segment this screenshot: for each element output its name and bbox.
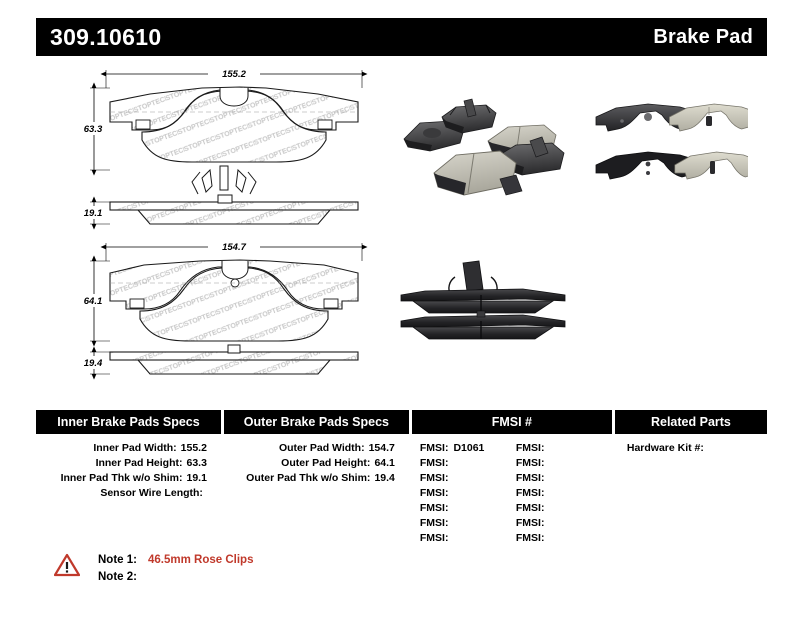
fmsi-row: FMSI:D1061 — [420, 441, 516, 456]
pad-photo-item — [675, 152, 748, 179]
spec-row: Inner Pad Thk w/o Shim:19.1 — [36, 471, 221, 486]
outer-pad-outline — [110, 260, 358, 341]
notes-section: Note 1:46.5mm Rose Clips Note 2: — [36, 552, 536, 586]
svg-text:155.2: 155.2 — [222, 69, 246, 80]
fmsi-label: FMSI: — [516, 532, 545, 544]
spec-label: Outer Pad Height: — [281, 457, 370, 469]
fmsi-label: FMSI: — [516, 502, 545, 514]
fmsi-row: FMSI: — [420, 516, 516, 531]
fmsi-row: FMSI: — [420, 501, 516, 516]
fmsi-row: FMSI: — [516, 456, 612, 471]
spec-row: Inner Pad Width:155.2 — [36, 441, 221, 456]
spec-value: 155.2 — [181, 442, 207, 454]
fmsi-header: FMSI # — [412, 410, 612, 434]
spec-label: Sensor Wire Length: — [100, 487, 203, 499]
spec-row: Inner Pad Height:63.3 — [36, 456, 221, 471]
fmsi-row: FMSI: — [516, 531, 612, 546]
warning-triangle-icon — [54, 553, 80, 577]
fmsi-label: FMSI: — [420, 457, 449, 469]
outer-specs-column: Outer Brake Pads Specs Outer Pad Width:1… — [224, 410, 409, 546]
fmsi-label: FMSI: — [420, 472, 449, 484]
outer-thickness-view: 19.4 — [80, 345, 358, 374]
svg-text:19.4: 19.4 — [84, 358, 103, 369]
note-row-2: Note 2: — [98, 569, 253, 586]
spec-value: 64.1 — [374, 457, 394, 469]
inner-specs-header: Inner Brake Pads Specs — [36, 410, 221, 434]
inner-specs-body: Inner Pad Width:155.2 Inner Pad Height:6… — [36, 434, 221, 501]
svg-text:63.3: 63.3 — [84, 124, 103, 135]
fmsi-subcolumn-right: FMSI: FMSI: FMSI: FMSI: FMSI: — [516, 441, 612, 546]
spec-value: 19.1 — [187, 472, 207, 484]
inner-width-dimension: 155.2 — [106, 67, 362, 88]
fmsi-row: FMSI: — [420, 531, 516, 546]
fmsi-label: FMSI: — [420, 442, 449, 454]
fmsi-label: FMSI: — [420, 517, 449, 529]
note-value: 46.5mm Rose Clips — [148, 554, 253, 566]
figures-area: STOPTECH 155.2 — [0, 62, 800, 392]
spec-row: Sensor Wire Length: — [36, 486, 221, 501]
fmsi-row: FMSI: — [420, 486, 516, 501]
outer-specs-header: Outer Brake Pads Specs — [224, 410, 409, 434]
fmsi-row: FMSI: — [420, 471, 516, 486]
fmsi-row: FMSI: — [516, 486, 612, 501]
svg-text:19.1: 19.1 — [84, 208, 103, 219]
inner-sensor-clip — [192, 166, 256, 194]
fmsi-label: FMSI: — [420, 502, 449, 514]
specifications-table: Inner Brake Pads Specs Inner Pad Width:1… — [36, 410, 767, 546]
svg-text:64.1: 64.1 — [84, 296, 103, 307]
outer-width-dimension: 154.7 — [106, 240, 362, 261]
note-lines: Note 1:46.5mm Rose Clips Note 2: — [98, 552, 253, 586]
note-label: Note 1: — [98, 552, 148, 569]
fmsi-label: FMSI: — [420, 532, 449, 544]
spec-label: Outer Pad Thk w/o Shim: — [246, 472, 370, 484]
fmsi-row: FMSI: — [516, 441, 612, 456]
fmsi-label: FMSI: — [516, 472, 545, 484]
spec-label: Inner Pad Height: — [96, 457, 183, 469]
fmsi-column: FMSI # FMSI:D1061 FMSI: FMSI: FMSI: — [412, 410, 612, 546]
document-header: 309.10610 Brake Pad — [36, 18, 767, 56]
pad-photo-item — [401, 261, 565, 313]
fmsi-value: D1061 — [453, 442, 484, 454]
spec-value: 154.7 — [369, 442, 395, 454]
pad-photo-item — [434, 151, 522, 195]
inner-height-dimension: 63.3 — [80, 88, 110, 170]
svg-text:154.7: 154.7 — [222, 242, 246, 253]
brake-pad-four-up-photo — [588, 95, 748, 200]
fmsi-row: FMSI: — [516, 501, 612, 516]
spec-label: Outer Pad Width: — [279, 442, 365, 454]
fmsi-row: FMSI: — [516, 471, 612, 486]
outer-specs-body: Outer Pad Width:154.7 Outer Pad Height:6… — [224, 434, 409, 501]
fmsi-label: FMSI: — [516, 487, 545, 499]
spec-label: Inner Pad Thk w/o Shim: — [61, 472, 183, 484]
inner-pad-drawing: STOPTECH 155.2 — [80, 62, 400, 237]
brake-pad-set-angled-photo — [390, 95, 580, 215]
note-row-1: Note 1:46.5mm Rose Clips — [98, 552, 253, 569]
related-row: Hardware Kit #: — [615, 441, 767, 456]
spec-value: 19.4 — [374, 472, 394, 484]
related-parts-header: Related Parts — [615, 410, 767, 434]
fmsi-subcolumn-left: FMSI:D1061 FMSI: FMSI: FMSI: FMSI: — [420, 441, 516, 546]
inner-thickness-view: 19.1 — [80, 195, 358, 224]
part-number: 309.10610 — [50, 24, 161, 51]
spec-row: Outer Pad Thk w/o Shim:19.4 — [224, 471, 409, 486]
spec-row: Outer Pad Width:154.7 — [224, 441, 409, 456]
pad-photo-item — [401, 311, 565, 339]
related-parts-body: Hardware Kit #: — [615, 434, 767, 456]
spec-row: Outer Pad Height:64.1 — [224, 456, 409, 471]
fmsi-body: FMSI:D1061 FMSI: FMSI: FMSI: FMSI: — [412, 434, 612, 546]
inner-pad-outline — [110, 87, 358, 162]
outer-pad-drawing: STOPTECH 154.7 64.1 — [80, 237, 400, 387]
fmsi-label: FMSI: — [420, 487, 449, 499]
pad-photo-item — [442, 99, 496, 133]
spec-row — [224, 486, 409, 501]
spec-label: Inner Pad Width: — [93, 442, 176, 454]
related-label: Hardware Kit #: — [627, 442, 704, 454]
related-parts-column: Related Parts Hardware Kit #: — [615, 410, 767, 546]
fmsi-row: FMSI: — [516, 516, 612, 531]
spec-value: 63.3 — [187, 457, 207, 469]
note-label: Note 2: — [98, 569, 148, 586]
fmsi-label: FMSI: — [516, 517, 545, 529]
fmsi-row: FMSI: — [420, 456, 516, 471]
fmsi-label: FMSI: — [516, 442, 545, 454]
brake-pad-edge-view-photo — [395, 255, 575, 352]
inner-specs-column: Inner Brake Pads Specs Inner Pad Width:1… — [36, 410, 221, 546]
page-title: Brake Pad — [653, 26, 753, 49]
fmsi-label: FMSI: — [516, 457, 545, 469]
outer-height-dimension: 64.1 — [80, 261, 110, 341]
